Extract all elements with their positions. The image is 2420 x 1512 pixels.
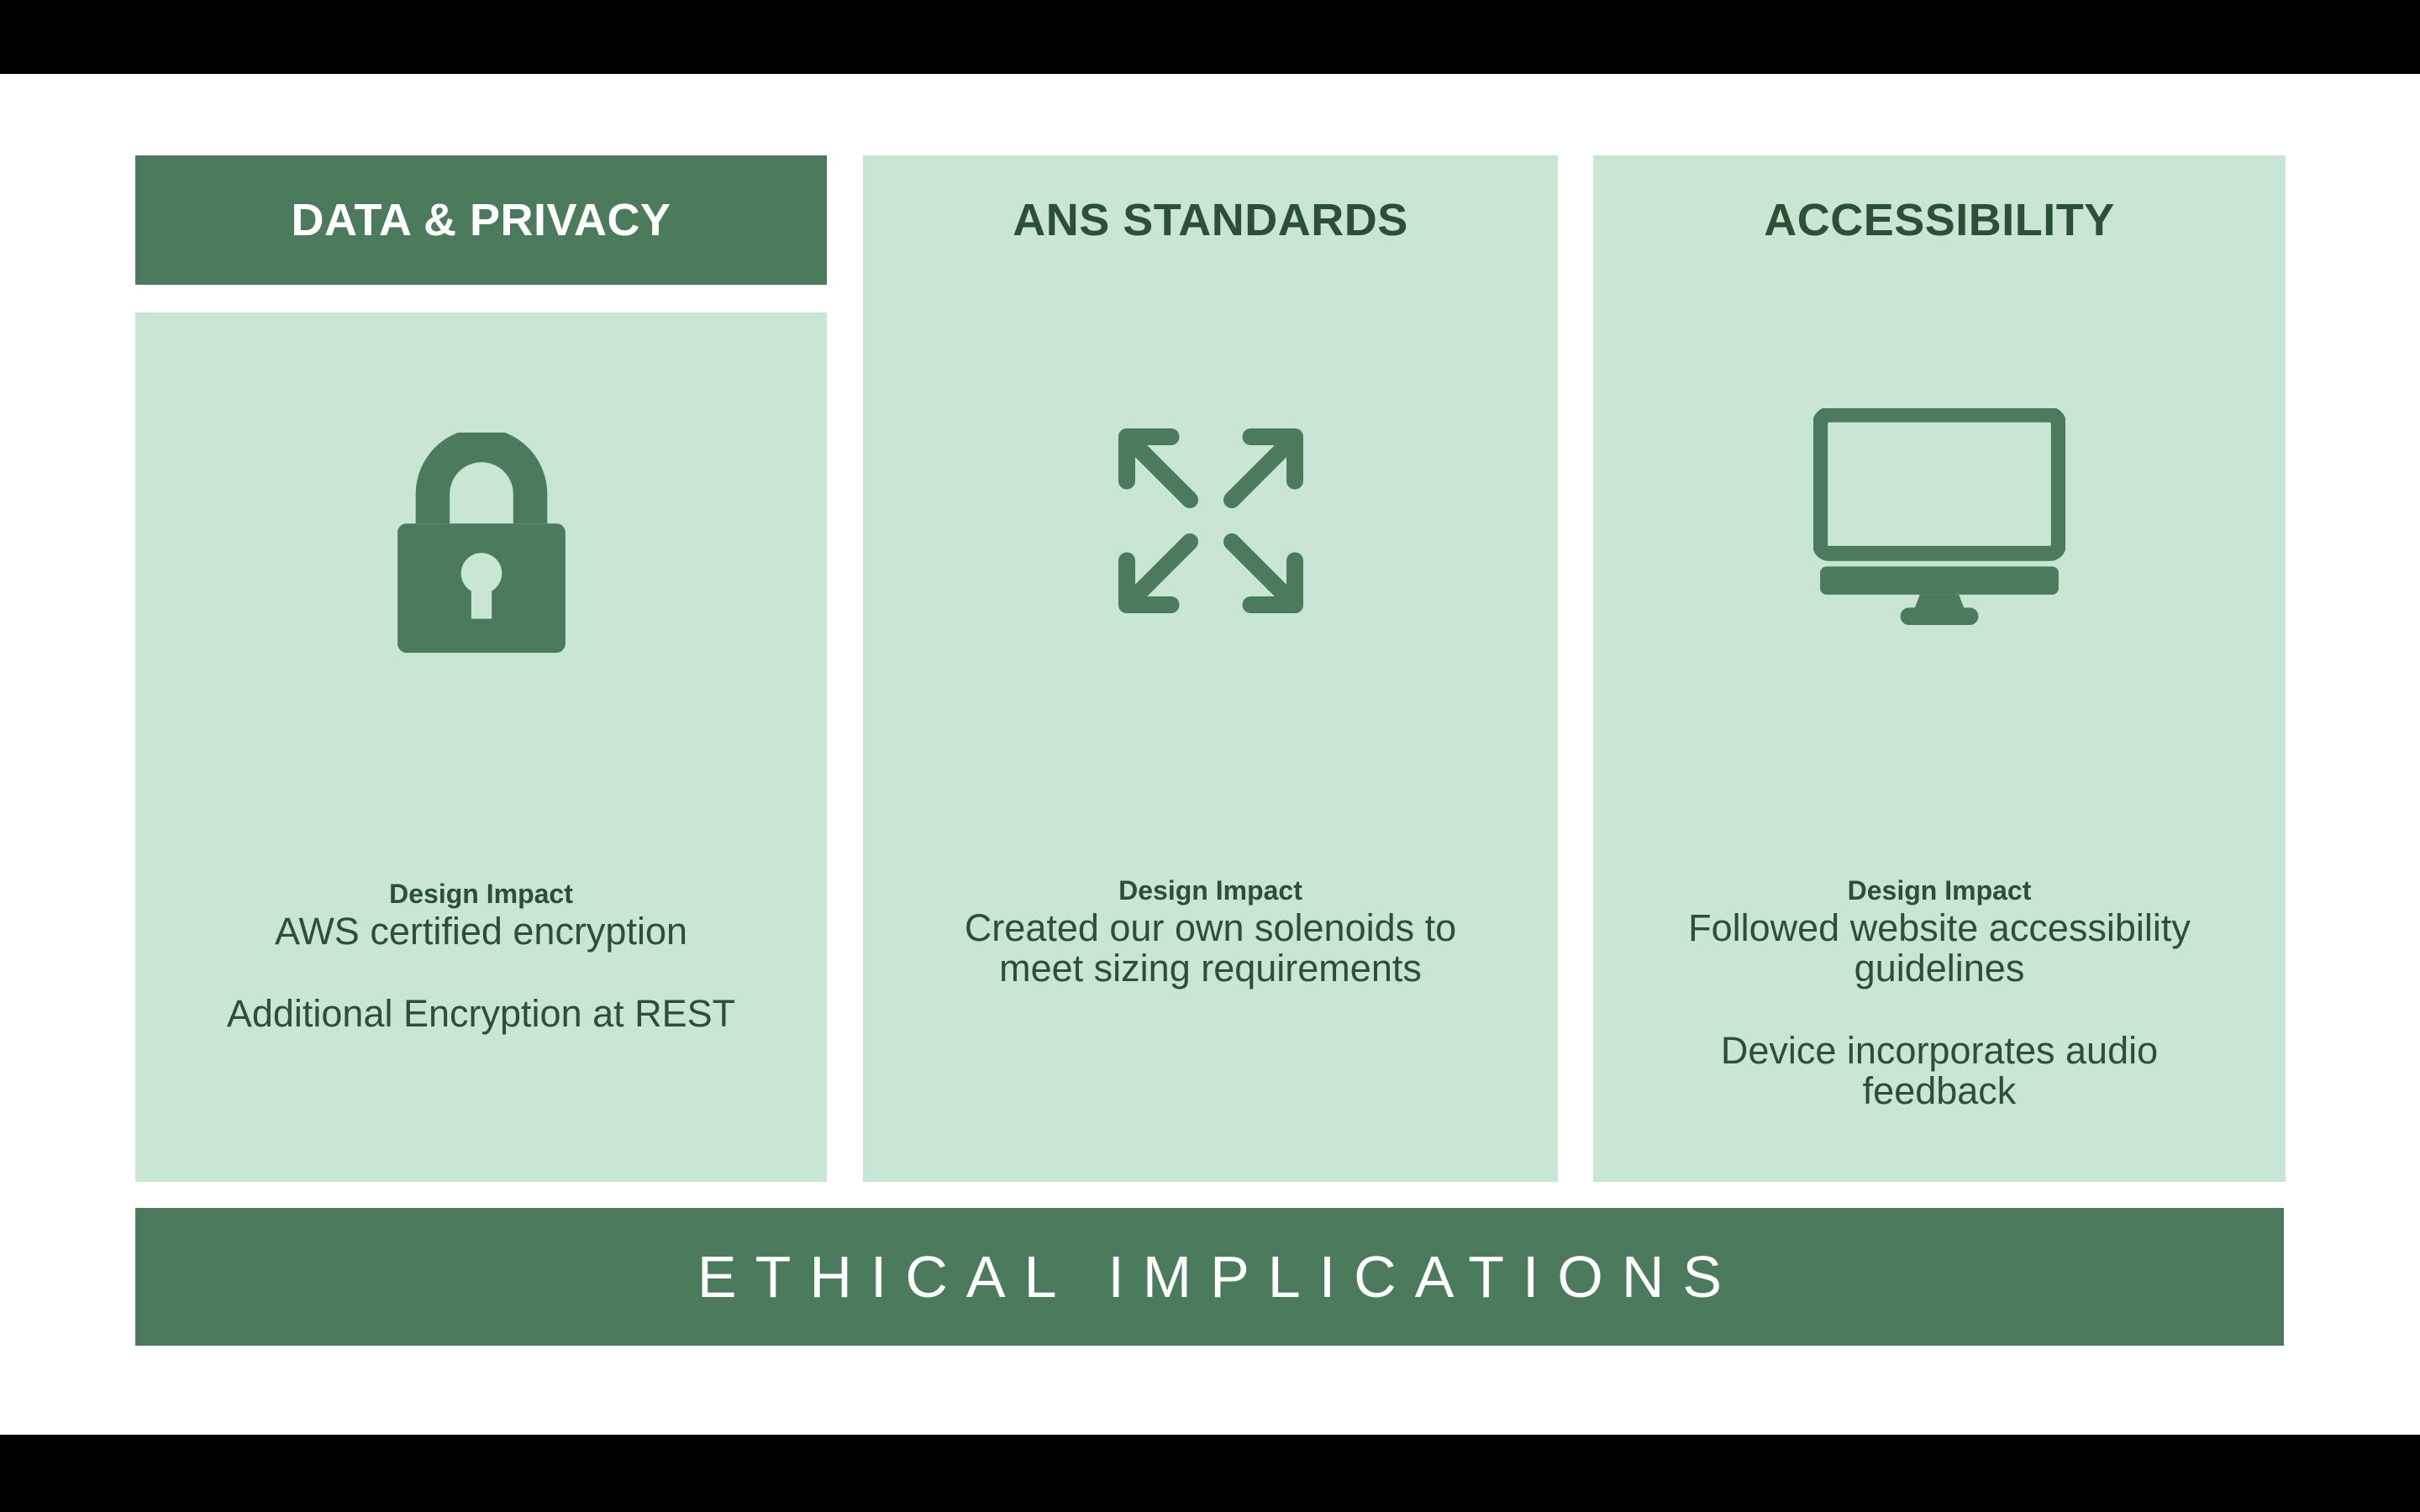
column-header-accessibility[interactable]: ACCESSIBILITY <box>1593 155 2286 285</box>
column-accessibility[interactable]: Design Impact Followed website accessibi… <box>1593 155 2286 1182</box>
impact-text-data-privacy: Design Impact AWS certified encryption A… <box>135 877 827 1034</box>
letterbox-bottom-bar <box>0 1435 2420 1512</box>
letterbox-top-bar <box>0 0 2420 74</box>
impact-label: Design Impact <box>147 877 815 911</box>
expand-arrows-icon-wrap <box>863 407 1558 634</box>
banner-title: ETHICAL IMPLICATIONS <box>679 1243 1740 1310</box>
column-group: Design Impact AWS certified encryption A… <box>135 155 2286 1182</box>
impact-line-spacer <box>1605 989 2274 1031</box>
impact-line: feedback <box>1605 1071 2274 1111</box>
monitor-icon <box>1813 408 2065 625</box>
column-header-label: DATA & PRIVACY <box>292 194 671 246</box>
impact-label: Design Impact <box>875 874 1546 907</box>
impact-line: Additional Encryption at REST <box>147 994 815 1034</box>
column-data-privacy[interactable]: Design Impact AWS certified encryption A… <box>135 155 827 1182</box>
column-body-accessibility: Design Impact Followed website accessibi… <box>1593 155 2286 1182</box>
lock-icon <box>368 433 595 655</box>
impact-label: Design Impact <box>1605 874 2274 907</box>
impact-line: Created our own solenoids to <box>875 908 1546 948</box>
column-header-ans-standards[interactable]: ANS STANDARDS <box>863 155 1558 285</box>
impact-line: guidelines <box>1605 948 2274 989</box>
impact-line-spacer <box>147 952 815 994</box>
column-ans-standards[interactable]: Design Impact Created our own solenoids … <box>863 155 1558 1182</box>
ethical-implications-banner: ETHICAL IMPLICATIONS <box>135 1208 2284 1346</box>
impact-line: meet sizing requirements <box>875 948 1546 989</box>
column-body-data-privacy: Design Impact AWS certified encryption A… <box>135 312 827 1182</box>
slide-canvas: Design Impact AWS certified encryption A… <box>0 74 2420 1435</box>
impact-text-accessibility: Design Impact Followed website accessibi… <box>1593 874 2286 1112</box>
column-header-label: ACCESSIBILITY <box>1764 194 2115 246</box>
column-body-ans-standards: Design Impact Created our own solenoids … <box>863 155 1558 1182</box>
impact-line: AWS certified encryption <box>147 911 815 952</box>
monitor-icon-wrap <box>1593 399 2286 634</box>
lock-icon-wrap <box>135 434 827 653</box>
expand-arrows-icon <box>1106 416 1316 626</box>
impact-text-ans-standards: Design Impact Created our own solenoids … <box>863 874 1558 989</box>
impact-line: Followed website accessibility <box>1605 908 2274 948</box>
column-header-label: ANS STANDARDS <box>1013 194 1408 246</box>
column-header-data-privacy[interactable]: DATA & PRIVACY <box>135 155 827 285</box>
impact-line: Device incorporates audio <box>1605 1031 2274 1071</box>
